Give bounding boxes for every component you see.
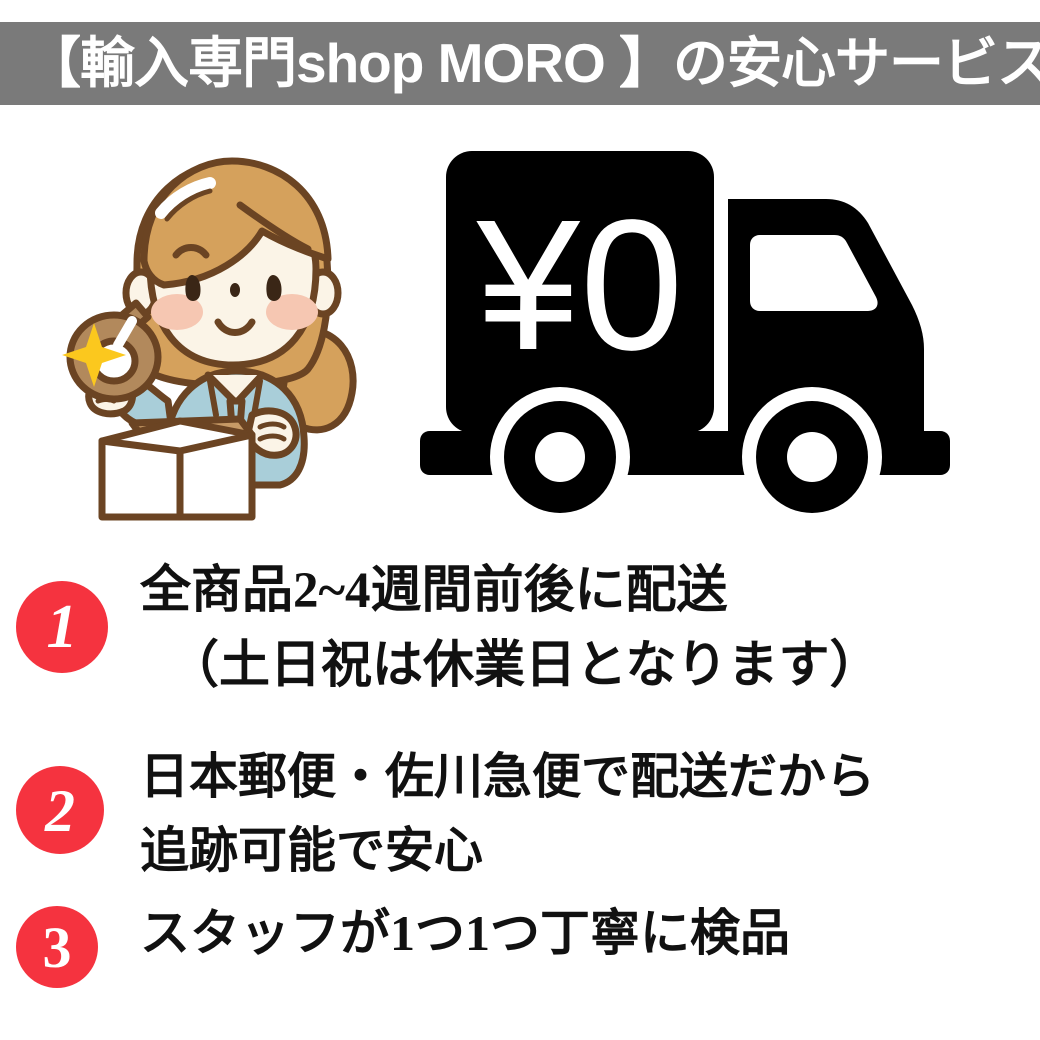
item-number-badge-1: 1 [16,581,108,673]
item-number-badge-2: 2 [16,766,104,854]
nose [230,283,240,297]
item-text-3: スタッフが1つ1つ丁寧に検品 [140,898,1030,968]
hubcap-front [787,432,837,482]
delivery-truck-illustration: ¥0 [420,135,1020,520]
item-2-line-1: 日本郵便・佐川急便で配送だから [140,740,1030,814]
woman-inspecting-package-illustration [40,135,400,530]
item-3-line-1: スタッフが1つ1つ丁寧に検品 [140,898,1030,968]
item-1-line-2: （土日祝は休業日となります） [140,629,1030,704]
hubcap-rear [535,432,585,482]
item-1-line-1: 全商品2~4週間前後に配送 [140,554,1030,629]
truck-price-label: ¥0 [476,182,684,389]
illustration-row: ¥0 [0,125,1040,540]
item-2-line-2: 追跡可能で安心 [140,814,1030,888]
promo-banner: 【輸入専門shop MORO 】の安心サービス [0,0,1040,1040]
item-number-badge-3: 3 [16,906,98,988]
woman-svg [40,135,400,525]
truck-svg: ¥0 [420,135,1020,515]
header-bar: 【輸入専門shop MORO 】の安心サービス [0,22,1040,105]
item-text-2: 日本郵便・佐川急便で配送だから 追跡可能で安心 [140,740,1030,888]
page-title: 【輸入専門shop MORO 】の安心サービス [26,36,1040,91]
item-text-1: 全商品2~4週間前後に配送 （土日祝は休業日となります） [140,554,1030,704]
